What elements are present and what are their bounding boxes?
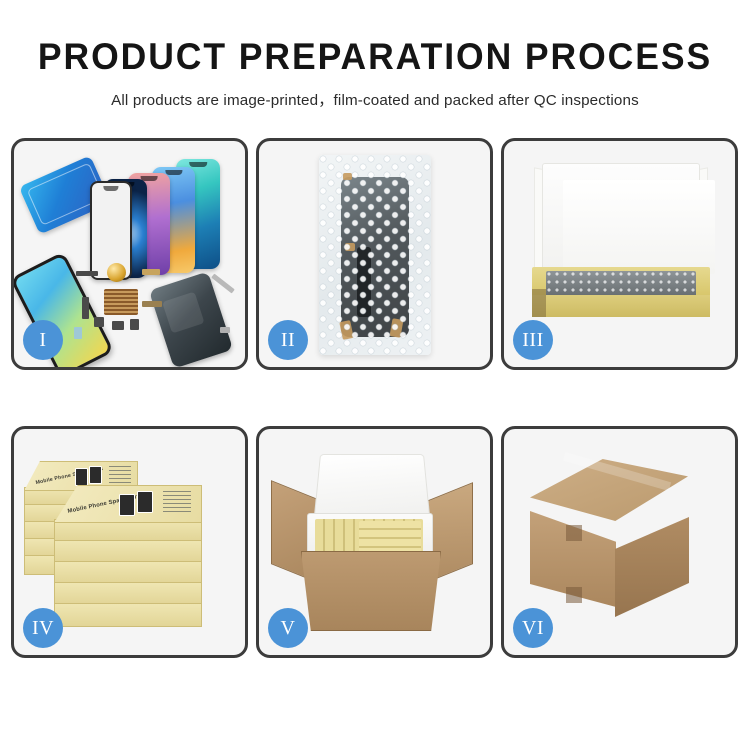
small-part-icon — [112, 321, 124, 330]
box-tray-front — [532, 295, 710, 317]
step-badge-3: III — [513, 320, 553, 360]
page-title: PRODUCT PREPARATION PROCESS — [15, 38, 735, 75]
page-subtitle: All products are image-printed，film-coat… — [0, 88, 750, 110]
carton-body — [301, 551, 441, 631]
connector-chip-icon — [104, 289, 138, 315]
step-panel-5: V — [256, 426, 493, 658]
screw-icon — [220, 327, 230, 333]
stacked-box — [54, 540, 202, 563]
box-back-wall — [542, 163, 700, 281]
small-part-icon — [82, 297, 89, 319]
box-tray-corner — [532, 289, 546, 317]
step-badge-2: II — [268, 320, 308, 360]
carton-right-face — [615, 517, 689, 617]
box-phone-image — [119, 494, 135, 516]
small-part-icon — [142, 301, 162, 307]
box-phone-image — [137, 491, 153, 513]
step-panel-4: Mobile Phone Spare Parts Mobile Phone Sp… — [11, 426, 248, 658]
process-steps-grid: I II — [11, 138, 739, 690]
stacked-box — [54, 561, 202, 584]
step-panel-2: II — [256, 138, 493, 370]
small-part-icon — [94, 317, 104, 327]
step-badge-6: VI — [513, 608, 553, 648]
header: PRODUCT PREPARATION PROCESS All products… — [0, 0, 750, 110]
vibration-motor-icon — [107, 263, 126, 282]
foam-sheet-icon — [563, 180, 715, 274]
small-part-icon — [76, 271, 98, 276]
step-panel-1: I — [11, 138, 248, 370]
step-badge-1: I — [23, 320, 63, 360]
box-spec-text — [163, 491, 191, 514]
step-badge-5: V — [268, 608, 308, 648]
step-panel-3: III — [501, 138, 738, 370]
stacked-box-top: Mobile Phone Spare Parts — [54, 485, 202, 523]
open-box — [524, 163, 716, 333]
notch-icon — [165, 170, 182, 175]
box-phone-image — [75, 468, 88, 486]
phone-backplate-icon — [149, 271, 233, 367]
box-spec-text — [109, 466, 131, 484]
box-stack: Mobile Phone Spare Parts Mobile Phone Sp… — [22, 453, 238, 633]
product-preparation-infographic: PRODUCT PREPARATION PROCESS All products… — [0, 0, 750, 750]
carton-tape-patch — [566, 587, 582, 603]
notch-icon — [189, 162, 207, 167]
stacked-box — [54, 603, 202, 627]
carton-tape-patch — [566, 525, 582, 541]
small-part-icon — [130, 319, 139, 330]
step-panel-6: VI — [501, 426, 738, 658]
small-part-icon — [74, 327, 82, 339]
bubble-texture — [319, 155, 431, 355]
step-badge-4: IV — [23, 608, 63, 648]
stacked-box — [54, 582, 202, 605]
small-part-icon — [142, 269, 160, 275]
styrofoam-lid-icon — [314, 454, 431, 520]
notch-icon — [103, 186, 118, 191]
bubble-wrap-bag — [319, 155, 431, 355]
box-phone-image — [89, 466, 102, 484]
